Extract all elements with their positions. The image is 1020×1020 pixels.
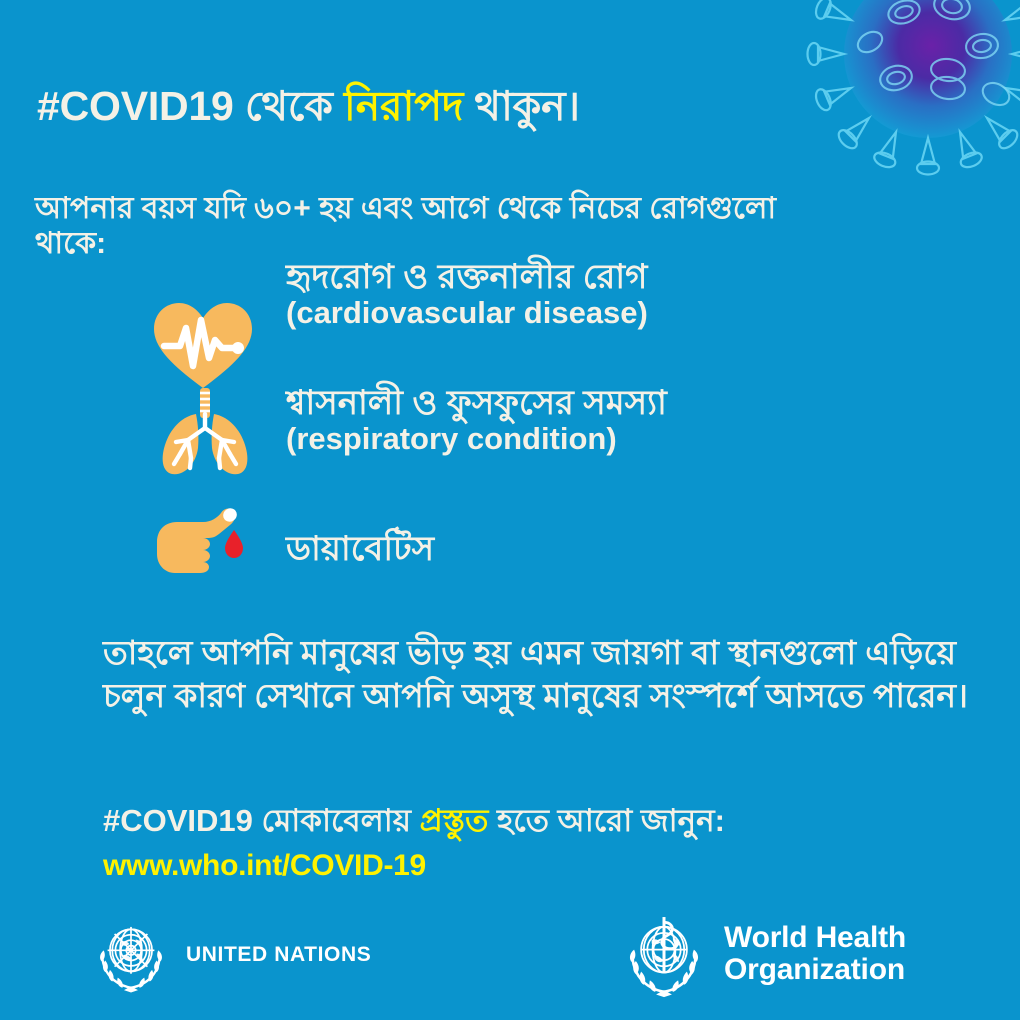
- who-logo-line2: Organization: [724, 954, 906, 986]
- headline-part1: #COVID19 থেকে: [37, 83, 344, 129]
- who-emblem-icon: [620, 910, 708, 998]
- cta-line: #COVID19 মোকাবেলায় প্রস্তুত হতে আরো জান…: [103, 804, 983, 838]
- headline-part2: থাকুন।: [463, 83, 580, 129]
- condition-label-en: (cardiovascular disease): [286, 296, 980, 331]
- poster-canvas: #COVID19 থেকে নিরাপদ থাকুন। আপনার বয়স য…: [0, 0, 1020, 1020]
- united-nations-logo: UNITED NATIONS: [92, 916, 371, 994]
- condition-text-respiratory: শ্বাসনালী ও ফুসফুসের সমস্যা (respiratory…: [286, 384, 980, 457]
- who-logo-label: World Health Organization: [724, 922, 906, 987]
- condition-list: হৃদরোগ ও রক্তনালীর রোগ (cardiovascular d…: [140, 256, 980, 601]
- subheading: আপনার বয়স যদি ৬০+ হয় এবং আগে থেকে নিচে…: [35, 192, 845, 261]
- body-paragraph: তাহলে আপনি মানুষের ভীড় হয় এমন জায়গা ব…: [103, 632, 973, 718]
- coronavirus-illustration-icon: [800, 0, 1020, 197]
- condition-text-diabetes: ডায়াবেটিস: [286, 496, 980, 568]
- condition-row-diabetes: ডায়াবেটিস: [140, 496, 980, 601]
- finger-blood-drop-icon: [145, 496, 255, 592]
- headline-highlight: নিরাপদ: [344, 83, 463, 129]
- condition-row-respiratory: শ্বাসনালী ও ফুসফুসের সমস্যা (respiratory…: [140, 384, 980, 496]
- condition-row-cardiovascular: হৃদরোগ ও রক্তনালীর রোগ (cardiovascular d…: [140, 256, 980, 384]
- cta-highlight: প্রস্তুত: [420, 803, 489, 838]
- un-logo-label: UNITED NATIONS: [186, 943, 371, 967]
- condition-label-bn: শ্বাসনালী ও ফুসফুসের সমস্যা: [286, 384, 980, 422]
- who-logo-line1: World Health: [724, 922, 906, 954]
- un-emblem-icon: [92, 916, 170, 994]
- cta-part1: #COVID19 মোকাবেলায়: [103, 803, 420, 838]
- condition-label-bn: হৃদরোগ ও রক্তনালীর রোগ: [286, 258, 980, 296]
- world-health-organization-logo: World Health Organization: [620, 910, 906, 998]
- cta-part2: হতে আরো জানুন:: [488, 803, 725, 838]
- headline: #COVID19 থেকে নিরাপদ থাকুন।: [37, 86, 580, 127]
- condition-label-bn: ডায়াবেটিস: [286, 530, 980, 568]
- who-url-link[interactable]: www.who.int/COVID-19: [103, 849, 426, 883]
- heart-pulse-icon: [148, 296, 258, 392]
- condition-text-cardiovascular: হৃদরোগ ও রক্তনালীর রোগ (cardiovascular d…: [286, 256, 980, 331]
- lungs-icon: [150, 384, 260, 480]
- condition-label-en: (respiratory condition): [286, 422, 980, 457]
